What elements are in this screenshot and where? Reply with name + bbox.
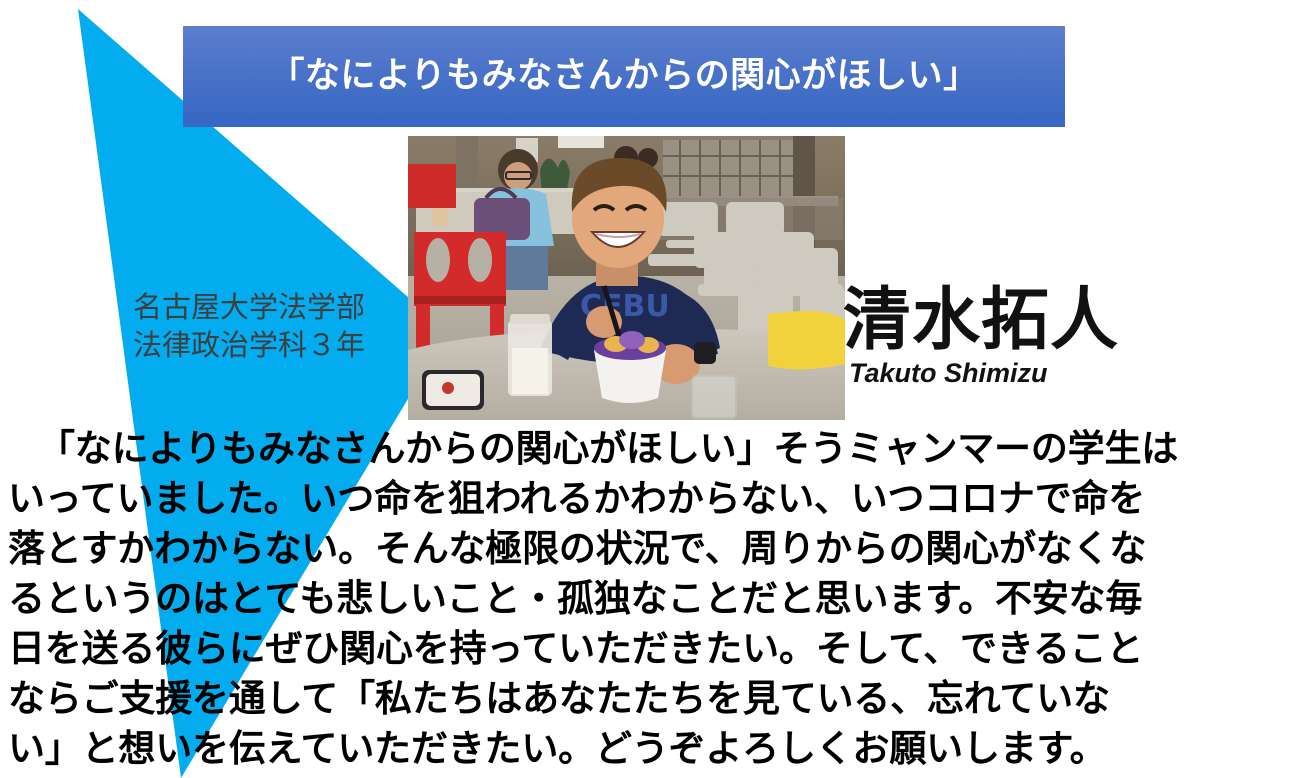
photo-illustration: CEBU: [408, 136, 845, 420]
affiliation-block: 名古屋大学法学部 法律政治学科３年: [133, 288, 365, 365]
body-line: い」と想いを伝えていただきたい。どうぞよろしくお願いします。: [8, 724, 1293, 774]
name-romaji: Takuto Shimizu: [849, 359, 1119, 389]
name-block: 清水拓人 Takuto Shimizu: [843, 287, 1119, 389]
title-banner: 「なによりもみなさんからの関心がほしい」: [183, 26, 1065, 127]
body-line: 日を送る彼らにぜひ関心を持っていただきたい。そして、できること: [8, 624, 1293, 674]
title-text: 「なによりもみなさんからの関心がほしい」: [269, 59, 978, 94]
body-line: るというのはとても悲しいこと・孤独なことだと思います。不安な毎: [8, 574, 1293, 624]
body-paragraph: 「なによりもみなさんからの関心がほしい」そうミャンマーの学生は いっていました。…: [8, 424, 1293, 774]
name-japanese: 清水拓人: [843, 287, 1119, 355]
affiliation-line-1: 名古屋大学法学部: [133, 288, 365, 326]
body-line: ならご支援を通して「私たちはあなたたちを見ている、忘れていな: [8, 674, 1293, 724]
body-line: 落とすかわからない。そんな極限の状況で、周りからの関心がなくな: [8, 524, 1293, 574]
affiliation-line-2: 法律政治学科３年: [133, 326, 365, 364]
body-line: 「なによりもみなさんからの関心がほしい」そうミャンマーの学生は: [8, 424, 1293, 474]
slide-root: 「なによりもみなさんからの関心がほしい」: [0, 0, 1299, 778]
profile-photo: CEBU: [408, 136, 845, 420]
body-line: いっていました。いつ命を狙われるかわからない、いつコロナで命を: [8, 474, 1293, 524]
